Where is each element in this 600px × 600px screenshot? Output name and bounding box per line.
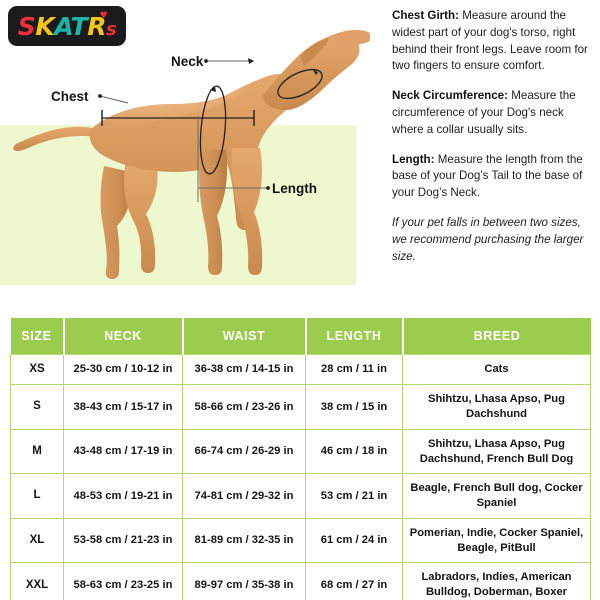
dog-rear-leg-near <box>124 160 157 273</box>
cell-size: XS <box>11 355 64 385</box>
instruction-chest-girth: Chest Girth: Measure around the widest p… <box>392 8 592 75</box>
logo-letter-t: T <box>71 12 88 41</box>
chest-leader-dot <box>98 94 102 98</box>
table-row: M 43-48 cm / 17-19 in 66-74 cm / 26-29 i… <box>11 429 591 474</box>
column-header-size: SIZE <box>11 318 64 355</box>
cell-neck: 48-53 cm / 19-21 in <box>64 474 183 519</box>
cell-size: L <box>11 474 64 519</box>
neck-leader-arrow <box>248 58 254 64</box>
table-header: SIZE NECK WAIST LENGTH BREED <box>11 318 591 355</box>
cell-breed: Beagle, French Bull dog, Cocker Spaniel <box>403 474 591 519</box>
cell-waist: 81-89 cm / 32-35 in <box>183 518 306 563</box>
cell-breed: Cats <box>403 355 591 385</box>
dog-muzzle <box>330 30 370 47</box>
table-row: S 38-43 cm / 15-17 in 58-66 cm / 23-26 i… <box>11 385 591 430</box>
size-chart-page: SKATRs ♥ <box>0 0 600 600</box>
instruction-term-length: Length: <box>392 153 435 166</box>
cell-waist: 58-66 cm / 23-26 in <box>183 385 306 430</box>
cell-length: 68 cm / 27 in <box>306 563 403 600</box>
brand-logo: SKATRs ♥ <box>8 6 126 46</box>
column-header-waist: WAIST <box>183 318 306 355</box>
instruction-neck-circumference: Neck Circumference: Measure the circumfe… <box>392 88 592 138</box>
cell-neck: 53-58 cm / 21-23 in <box>64 518 183 563</box>
label-length: Length <box>272 181 317 196</box>
cell-neck: 25-30 cm / 10-12 in <box>64 355 183 385</box>
table-row: XXL 58-63 cm / 23-25 in 89-97 cm / 35-38… <box>11 563 591 600</box>
cell-length: 28 cm / 11 in <box>306 355 403 385</box>
table-row: XL 53-58 cm / 21-23 in 81-89 cm / 32-35 … <box>11 518 591 563</box>
dog-tail <box>13 127 96 151</box>
cell-waist: 89-97 cm / 35-38 in <box>183 563 306 600</box>
table-body: XS 25-30 cm / 10-12 in 36-38 cm / 14-15 … <box>11 355 591 600</box>
label-chest: Chest <box>51 89 89 104</box>
cell-length: 53 cm / 21 in <box>306 474 403 519</box>
cell-breed: Labradors, Indies, American Bulldog, Dob… <box>403 563 591 600</box>
cell-waist: 74-81 cm / 29-32 in <box>183 474 306 519</box>
instruction-term-chest: Chest Girth: <box>392 9 459 22</box>
cell-neck: 38-43 cm / 15-17 in <box>64 385 183 430</box>
cell-neck: 58-63 cm / 23-25 in <box>64 563 183 600</box>
column-header-breed: BREED <box>403 318 591 355</box>
cell-size: XL <box>11 518 64 563</box>
cell-waist: 66-74 cm / 26-29 in <box>183 429 306 474</box>
table-row: L 48-53 cm / 19-21 in 74-81 cm / 29-32 i… <box>11 474 591 519</box>
cell-waist: 36-38 cm / 14-15 in <box>183 355 306 385</box>
instruction-length: Length: Measure the length from the base… <box>392 152 592 202</box>
instruction-term-neck: Neck Circumference: <box>392 89 508 102</box>
cell-length: 46 cm / 18 in <box>306 429 403 474</box>
logo-letter-s2: s <box>106 19 116 40</box>
dog-front-leg-far <box>199 150 227 275</box>
table-header-row: SIZE NECK WAIST LENGTH BREED <box>11 318 591 355</box>
diagram-section: SKATRs ♥ <box>0 0 600 300</box>
cell-size: XXL <box>11 563 64 600</box>
logo-letter-s1: S <box>18 12 36 41</box>
cell-breed: Shihtzu, Lhasa Apso, Pug Dachshund <box>403 385 591 430</box>
neck-leader-dot <box>204 59 208 63</box>
table-row: XS 25-30 cm / 10-12 in 36-38 cm / 14-15 … <box>11 355 591 385</box>
chest-leader-line <box>100 96 128 103</box>
cell-neck: 43-48 cm / 17-19 in <box>64 429 183 474</box>
cell-breed: Shihtzu, Lhasa Apso, Pug Dachshund, Fren… <box>403 429 591 474</box>
cell-size: M <box>11 429 64 474</box>
column-header-length: LENGTH <box>306 318 403 355</box>
instructions-column: Chest Girth: Measure around the widest p… <box>392 8 592 278</box>
label-neck: Neck <box>171 54 203 69</box>
sizing-note: If your pet falls in between two sizes, … <box>392 215 592 265</box>
logo-letter-k: K <box>35 12 54 41</box>
cell-length: 61 cm / 24 in <box>306 518 403 563</box>
heart-icon: ♥ <box>100 12 108 21</box>
cell-breed: Pomerian, Indie, Cocker Spaniel, Beagle,… <box>403 518 591 563</box>
logo-letter-a: A <box>54 12 70 41</box>
brand-logo-text: SKATRs ♥ <box>18 14 116 39</box>
length-leader-dot <box>266 186 270 190</box>
column-header-neck: NECK <box>64 318 183 355</box>
cell-length: 38 cm / 15 in <box>306 385 403 430</box>
cell-size: S <box>11 385 64 430</box>
size-chart-table: SIZE NECK WAIST LENGTH BREED XS 25-30 cm… <box>10 318 591 600</box>
